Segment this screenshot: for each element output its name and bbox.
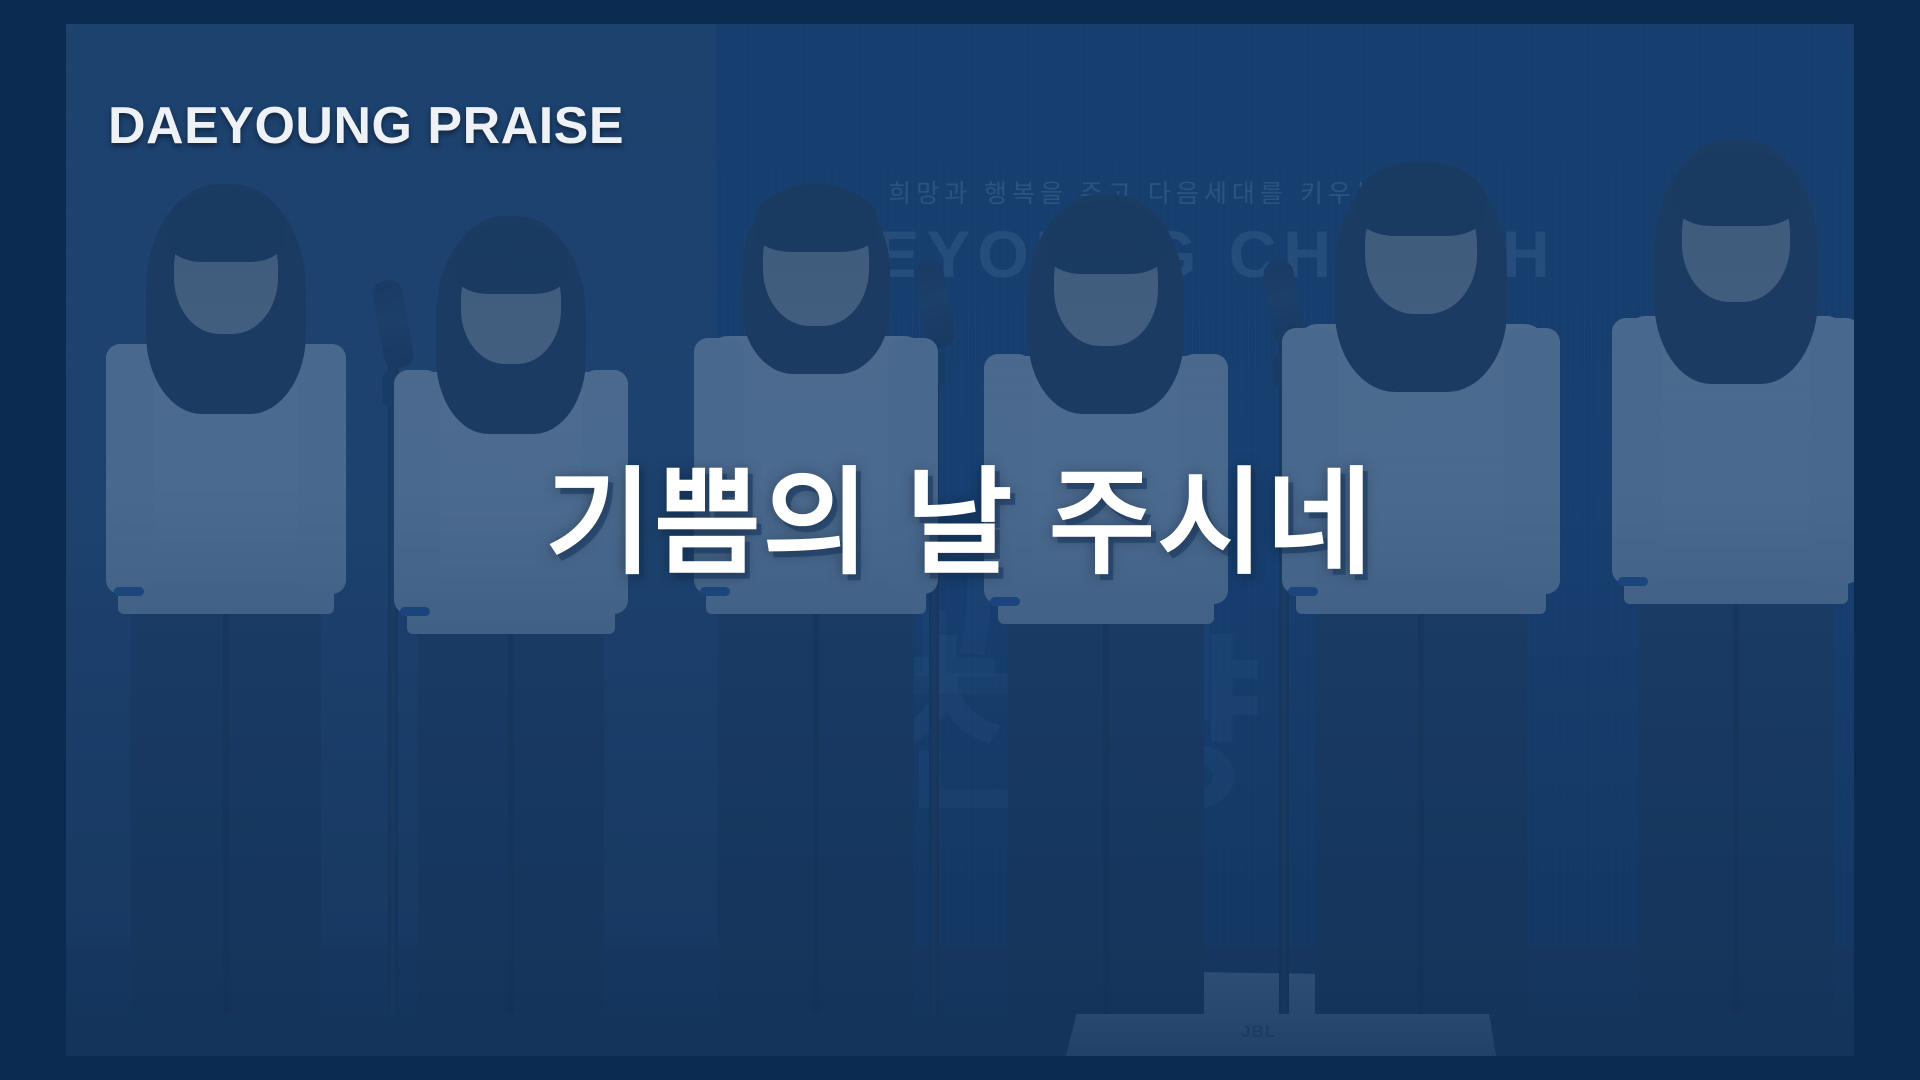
blue-tint-overlay-secondary	[66, 24, 1854, 1056]
stage-photo: 교회 찬양 희망과 행복을 주고 다음세대를 키우는 DAEYOUNG CHUR…	[66, 24, 1854, 1056]
video-stage-area: 교회 찬양 희망과 행복을 주고 다음세대를 키우는 DAEYOUNG CHUR…	[66, 24, 1854, 1056]
slide-frame: 교회 찬양 희망과 행복을 주고 다음세대를 키우는 DAEYOUNG CHUR…	[0, 0, 1920, 1080]
